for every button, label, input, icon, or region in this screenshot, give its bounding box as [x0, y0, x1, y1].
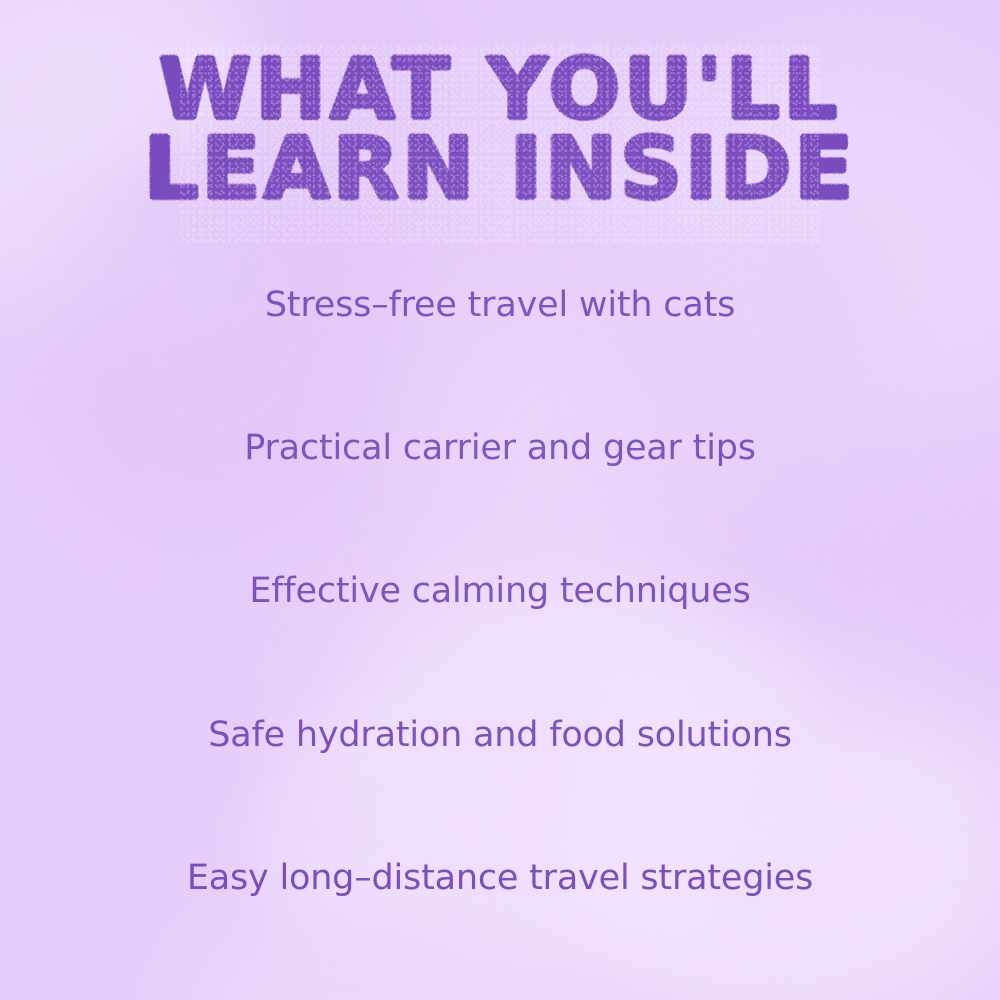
list-item: Stress–free travel with cats	[0, 286, 1000, 325]
poster-canvas: WHAT YOU'LL LEARN INSIDE Stress–free tra…	[0, 0, 1000, 1000]
list-item: Practical carrier and gear tips	[0, 429, 1000, 468]
learn-inside-list: Stress–free travel with cats Practical c…	[0, 286, 1000, 898]
list-item: Effective calming techniques	[0, 572, 1000, 611]
background-blob	[180, 880, 600, 1000]
page-title-line-2: LEARN INSIDE	[0, 127, 1000, 212]
list-item: Easy long–distance travel strategies	[0, 859, 1000, 898]
page-title: WHAT YOU'LL LEARN INSIDE	[0, 48, 1000, 212]
list-item: Safe hydration and food solutions	[0, 716, 1000, 755]
